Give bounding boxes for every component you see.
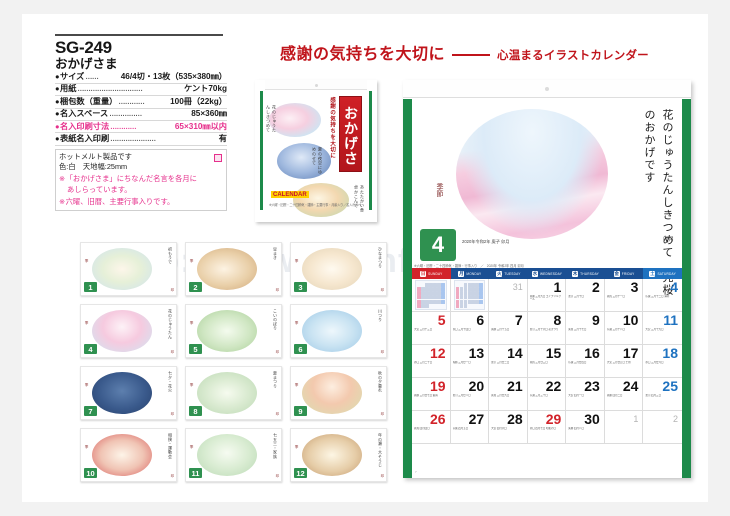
page-root: SG-249 おかげさま ●サイズ……46/4切・13枚（535×380㎜）●用… bbox=[0, 0, 730, 516]
dow-kanji: 火 bbox=[496, 271, 502, 277]
spec-leader: ………………… bbox=[109, 135, 219, 145]
dow-kanji: 日 bbox=[420, 271, 426, 277]
spec-leader: …… bbox=[84, 73, 120, 83]
hole-icon bbox=[315, 84, 318, 87]
thumbnail-illustration bbox=[197, 372, 257, 414]
spec-leader: ………… bbox=[109, 123, 175, 133]
day-annotation: 先勝 三月十五日 bbox=[491, 328, 525, 331]
thumbnail-seal: 季 bbox=[190, 445, 195, 459]
calendar-day-cell[interactable] bbox=[451, 279, 490, 312]
spec-leader: ………………………… bbox=[76, 85, 184, 95]
spec-label: 用紙 bbox=[60, 84, 76, 94]
calendar-bottom-note: ⌐ bbox=[415, 470, 417, 474]
calendar-day-cell[interactable]: 5大安 三月十三日 bbox=[412, 312, 451, 345]
title-divider bbox=[55, 34, 223, 36]
thumbnail-month-badge: 10 bbox=[84, 468, 97, 478]
calendar-hanger-strip bbox=[403, 80, 691, 98]
day-number: 18 bbox=[645, 346, 680, 361]
thumbnail-illustration bbox=[302, 434, 362, 476]
spec-leader: ………… bbox=[117, 98, 170, 108]
thumbnail-stamp: 印 bbox=[381, 411, 384, 416]
calendar-dow-monday: 月MONDAY bbox=[451, 268, 490, 279]
thumbnail-month-8[interactable]: 季夏まつり8印 bbox=[185, 366, 282, 420]
calendar-day-cell[interactable]: 22仏滅 三月三十日 bbox=[528, 378, 567, 411]
hole-icon bbox=[545, 87, 549, 91]
day-number: 9 bbox=[568, 313, 602, 328]
day-annotation: 赤口 四月七日 昭和の日 bbox=[530, 427, 564, 430]
calendar-grid: 日SUNDAY月MONDAY火TUESDAY水WEDNESDAY木THURSDA… bbox=[412, 268, 682, 444]
thumbnail-seal: 季 bbox=[85, 445, 90, 459]
day-number: 13 bbox=[453, 346, 487, 361]
calendar-day-cell[interactable]: 28大安 四月六日 bbox=[489, 411, 528, 444]
cover-caption-3: あたたかい食卓かこんで bbox=[353, 185, 365, 215]
day-annotation: 仏滅 三月廿四日 bbox=[568, 361, 602, 364]
day-number: 28 bbox=[491, 412, 525, 427]
dow-kanji: 土 bbox=[649, 271, 655, 277]
thumbnail-stamp: 印 bbox=[276, 287, 279, 292]
thumbnail-month-5[interactable]: 季こいのぼり5印 bbox=[185, 304, 282, 358]
day-number: 3 bbox=[607, 280, 641, 295]
thumbnail-seal: 季 bbox=[295, 445, 300, 459]
thumbnail-stamp: 印 bbox=[381, 349, 384, 354]
note-star-0: ※ 「おかげさま」にちなんだ名言を各月に bbox=[59, 174, 223, 184]
cover-logo: CALENDAR bbox=[271, 191, 309, 198]
calendar-day-cell[interactable]: 13先勝 三月廿一日 bbox=[451, 345, 490, 378]
thumbnail-stamp: 印 bbox=[171, 411, 174, 416]
thumbnail-stamp: 印 bbox=[381, 287, 384, 292]
day-number: 6 bbox=[453, 313, 487, 328]
headline-main: 感謝の気持ちを大切に bbox=[280, 46, 445, 64]
note-plain-0: ホットメルト製品です bbox=[59, 152, 223, 162]
bullet-icon: ● bbox=[55, 97, 60, 107]
product-name: おかげさま bbox=[55, 57, 227, 71]
thumbnail-stamp: 印 bbox=[276, 411, 279, 416]
calendar-day-cell[interactable]: 8友引 三月十六日 花まつり bbox=[528, 312, 567, 345]
spec-row-2: ●梱包数（重量）…………100冊（22kg） bbox=[55, 97, 227, 109]
spec-row-1: ●用紙…………………………ケント70kg bbox=[55, 84, 227, 96]
day-annotation: 友引 三月十日 bbox=[568, 295, 602, 298]
day-annotation: 先負 三月廿九日 bbox=[491, 394, 525, 397]
day-annotation: 先負 三月十一日 bbox=[607, 295, 641, 298]
day-annotation: 大安 三月廿五日 土用 bbox=[607, 361, 641, 364]
month-note: 卯月 bbox=[663, 235, 674, 243]
day-number: 16 bbox=[568, 346, 602, 361]
calendar-day-cell[interactable]: 29赤口 四月七日 昭和の日 bbox=[528, 411, 567, 444]
mini-calendar-grid bbox=[456, 282, 484, 308]
dow-kanji: 金 bbox=[614, 271, 620, 277]
calendar-day-cell[interactable]: 16仏滅 三月廿四日 bbox=[566, 345, 605, 378]
day-annotation: 友引 三月廿八日 bbox=[453, 394, 487, 397]
thumbnail-month-badge: 9 bbox=[294, 406, 307, 416]
day-annotation: 仏滅 四月五日 bbox=[453, 427, 487, 430]
day-annotation: 赤口 三月二十日 bbox=[414, 361, 448, 364]
calendar-day-cell[interactable]: 25友引 四月三日 bbox=[643, 378, 682, 411]
thumbnail-month-badge: 12 bbox=[294, 468, 307, 478]
mini-calendar-day bbox=[456, 295, 460, 299]
day-annotation: 友引 四月三日 bbox=[645, 394, 680, 397]
day-annotation: 大安 四月一日 bbox=[568, 394, 602, 397]
calendar-dow-tuesday: 火TUESDAY bbox=[489, 268, 528, 279]
thumbnail-illustration bbox=[197, 310, 257, 352]
calendar-dow-saturday: 土SATURDAY bbox=[643, 268, 682, 279]
mini-calendar-grid bbox=[417, 282, 445, 308]
product-spec-panel: SG-249 おかげさま ●サイズ……46/4切・13枚（535×380㎜）●用… bbox=[55, 34, 227, 211]
calendar-day-cell[interactable]: 3先負 三月十一日 bbox=[605, 279, 644, 312]
thumbnail-month-2[interactable]: 季豆まき2印 bbox=[185, 242, 282, 296]
day-number: 30 bbox=[568, 412, 602, 427]
thumbnail-month-badge: 7 bbox=[84, 406, 97, 416]
calendar-day-cell[interactable]: 27仏滅 四月五日 bbox=[451, 411, 490, 444]
calendar-dow-thursday: 木THURSDAY bbox=[566, 268, 605, 279]
cover-title: おかげさま bbox=[339, 96, 362, 172]
spec-row-4: ●名入印刷寸法…………65×310㎜以内 bbox=[55, 122, 227, 134]
calendar-day-cell[interactable]: 11大安 三月十九日 bbox=[643, 312, 682, 345]
thumbnail-month-9[interactable]: 季秋の夕暮れ9印 bbox=[290, 366, 387, 420]
day-annotation: 先勝 四月八日 bbox=[568, 427, 602, 430]
day-annotation: 大安 三月十九日 bbox=[645, 328, 680, 331]
calendar-day-cell[interactable]: 19先勝 三月廿七日 穀雨 bbox=[412, 378, 451, 411]
thumbnail-month-12[interactable]: 季年の瀬・大そうじ12印 bbox=[290, 428, 387, 482]
thumbnail-illustration bbox=[302, 248, 362, 290]
thumbnail-seal: 季 bbox=[85, 321, 90, 335]
mini-calendar-day bbox=[479, 295, 483, 299]
mini-calendar-day bbox=[464, 283, 468, 287]
thumbnail-seal: 季 bbox=[85, 259, 90, 273]
note-star-1: ※ 六曜、旧暦、主要行事入りです。 bbox=[59, 197, 223, 207]
day-number: 2 bbox=[568, 280, 602, 295]
thumbnail-month-badge: 11 bbox=[189, 468, 202, 478]
day-annotation: 先勝 四月二日 bbox=[607, 394, 641, 397]
product-code: SG-249 bbox=[55, 38, 227, 57]
thumbnail-seal: 季 bbox=[295, 383, 300, 397]
monthly-thumbnail-grid: 季初もうで1印季豆まき2印季ひなまつり3印季花のじゅうたん4印季こいのぼり5印季… bbox=[80, 242, 390, 482]
cover-preview[interactable]: おかげさま 感謝の気持ちを大切に 花のじゅうたんしきつめて 夏の夜空にゆめのせて… bbox=[255, 80, 377, 222]
day-number: 15 bbox=[530, 346, 564, 361]
thumbnail-seal: 季 bbox=[295, 321, 300, 335]
calendar-day-cell[interactable]: 1先勝 三月九日 エイプリルフール bbox=[528, 279, 567, 312]
day-number: 26 bbox=[414, 412, 448, 427]
spec-list: ●サイズ……46/4切・13枚（535×380㎜）●用紙…………………………ケン… bbox=[55, 72, 227, 146]
calendar-day-cell[interactable]: 30先勝 四月八日 bbox=[566, 411, 605, 444]
thumbnail-month-badge: 6 bbox=[294, 344, 307, 354]
star-text-0: 「おかげさま」にちなんだ名言を各月に bbox=[66, 174, 223, 184]
dow-english: FRIDAY bbox=[622, 272, 635, 276]
thumbnail-month-3[interactable]: 季ひなまつり3印 bbox=[290, 242, 387, 296]
calendar-day-cell[interactable]: 12赤口 三月二十日 bbox=[412, 345, 451, 378]
calendar-day-cell[interactable]: 4仏滅 三月十二日 清明 bbox=[643, 279, 682, 312]
dow-kanji: 木 bbox=[572, 271, 578, 277]
spec-label: 名入印刷寸法 bbox=[60, 122, 109, 132]
spec-leader: …………… bbox=[108, 110, 191, 120]
note-star-0-cont: あしらっています。 bbox=[59, 185, 223, 195]
calendar-day-cell[interactable]: 23大安 四月一日 bbox=[566, 378, 605, 411]
calendar-day-cell[interactable]: 31 bbox=[489, 279, 528, 312]
calendar-day-cell[interactable]: 9先負 三月十七日 bbox=[566, 312, 605, 345]
thumbnail-month-badge: 5 bbox=[189, 344, 202, 354]
mini-calendar-day bbox=[464, 295, 468, 299]
thumbnail-month-badge: 2 bbox=[189, 282, 202, 292]
star-indent-0: あしらっています。 bbox=[67, 185, 223, 195]
mini-calendar-day bbox=[479, 283, 483, 287]
month-badge: 4 bbox=[420, 229, 456, 261]
thumbnail-stamp: 印 bbox=[171, 473, 174, 478]
mini-calendar bbox=[454, 280, 486, 310]
headline-dash bbox=[452, 54, 490, 56]
mini-calendar-day bbox=[441, 295, 445, 299]
thumbnail-month-badge: 8 bbox=[189, 406, 202, 416]
calendar-preview[interactable]: 季節 花のじゅうたんしきつめて 先桜のおかげです 卯月 4 2020年令和2年 … bbox=[403, 80, 691, 478]
spec-value: 85×360㎜ bbox=[191, 109, 227, 119]
calendar-day-cell[interactable]: 24先勝 四月二日 bbox=[605, 378, 644, 411]
spec-label: サイズ bbox=[60, 72, 84, 82]
day-number: 5 bbox=[414, 313, 448, 328]
calendar-day-cell[interactable]: 6赤口 三月十四日 bbox=[451, 312, 490, 345]
spec-label: 表紙名入印刷 bbox=[60, 134, 109, 144]
artwork-oval bbox=[456, 109, 608, 239]
calendar-day-cell[interactable]: 7先勝 三月十五日 bbox=[489, 312, 528, 345]
thumbnail-seal: 季 bbox=[295, 259, 300, 273]
day-number: 27 bbox=[453, 412, 487, 427]
calendar-day-cell[interactable]: 18赤口 三月廿六日 bbox=[643, 345, 682, 378]
headline-banner: 感謝の気持ちを大切に 心温まるイラストカレンダー bbox=[280, 46, 649, 64]
mini-calendar-day bbox=[441, 283, 445, 287]
dow-english: THURSDAY bbox=[580, 272, 599, 276]
day-number: 2 bbox=[645, 412, 680, 427]
spec-row-5: ●表紙名入印刷…………………有 bbox=[55, 134, 227, 146]
bullet-icon: ● bbox=[55, 134, 60, 144]
note-plain-1: 色:白 天地幅:25mm bbox=[59, 162, 223, 172]
calendar-day-cell[interactable]: 14友引 三月廿二日 bbox=[489, 345, 528, 378]
day-annotation: 赤口 三月十四日 bbox=[453, 328, 487, 331]
spec-row-0: ●サイズ……46/4切・13枚（535×380㎜） bbox=[55, 72, 227, 84]
calendar-dow-sunday: 日SUNDAY bbox=[412, 268, 451, 279]
spec-value: 100冊（22kg） bbox=[170, 97, 227, 107]
day-annotation: 大安 四月六日 bbox=[491, 427, 525, 430]
calendar-day-cell[interactable]: 10仏滅 三月十八日 bbox=[605, 312, 644, 345]
dow-english: TUESDAY bbox=[504, 272, 520, 276]
thumbnail-illustration bbox=[92, 372, 152, 414]
day-number: 17 bbox=[607, 346, 641, 361]
bullet-icon: ● bbox=[55, 84, 60, 94]
dow-english: MONDAY bbox=[466, 272, 481, 276]
headline-sub: 心温まるイラストカレンダー bbox=[497, 47, 649, 63]
thumbnail-stamp: 印 bbox=[276, 349, 279, 354]
day-annotation: 先負 三月十七日 bbox=[568, 328, 602, 331]
day-annotation: 赤口 三月廿六日 bbox=[645, 361, 680, 364]
thumbnail-illustration bbox=[197, 434, 257, 476]
thumbnail-month-10[interactable]: 季相撲・運動会10印 bbox=[80, 428, 177, 482]
bullet-icon: ● bbox=[55, 109, 60, 119]
day-number: 8 bbox=[530, 313, 564, 328]
day-number: 20 bbox=[453, 379, 487, 394]
dow-kanji: 月 bbox=[458, 271, 464, 277]
thumbnail-month-1[interactable]: 季初もうで1印 bbox=[80, 242, 177, 296]
day-annotation: 仏滅 三月十八日 bbox=[607, 328, 641, 331]
cover-caption-1: 花のじゅうたんしきつめて bbox=[265, 105, 277, 135]
mini-calendar-day bbox=[479, 304, 483, 308]
day-number: 31 bbox=[491, 280, 525, 295]
star-mark-1: ※ bbox=[59, 197, 65, 207]
bullet-icon: ● bbox=[55, 72, 60, 82]
calendar-day-cell[interactable]: 21先負 三月廿九日 bbox=[489, 378, 528, 411]
thumbnail-month-badge: 4 bbox=[84, 344, 97, 354]
thumbnail-month-badge: 3 bbox=[294, 282, 307, 292]
thumbnail-stamp: 印 bbox=[276, 473, 279, 478]
cover-caption-2: 夏の夜空にゆめのせて bbox=[311, 147, 323, 177]
mini-calendar-day bbox=[460, 283, 464, 287]
day-number: 7 bbox=[491, 313, 525, 328]
mini-calendar-day bbox=[441, 304, 445, 308]
cover-body: おかげさま 感謝の気持ちを大切に 花のじゅうたんしきつめて 夏の夜空にゆめのせて… bbox=[260, 91, 372, 210]
thumbnail-illustration bbox=[92, 434, 152, 476]
calendar-day-cell[interactable]: 2友引 三月十日 bbox=[566, 279, 605, 312]
day-annotation: 先勝 三月廿七日 穀雨 bbox=[414, 394, 448, 397]
day-number: 24 bbox=[607, 379, 641, 394]
day-annotation: 仏滅 三月三十日 bbox=[530, 394, 564, 397]
day-number: 1 bbox=[607, 412, 641, 427]
mini-calendar bbox=[415, 280, 447, 310]
thumbnail-month-4[interactable]: 季花のじゅうたん4印 bbox=[80, 304, 177, 358]
spec-value: 46/4切・13枚（535×380㎜） bbox=[121, 72, 227, 82]
year-info: 2020年令和2年 庚子 卯月 bbox=[462, 239, 509, 244]
star-text-1: 六曜、旧暦、主要行事入りです。 bbox=[66, 197, 223, 207]
cover-illustration-3 bbox=[293, 183, 349, 217]
thumbnail-month-badge: 1 bbox=[84, 282, 97, 292]
spec-value: ケント70kg bbox=[184, 84, 227, 94]
day-annotation: 先勝 三月九日 エイプリルフール bbox=[530, 295, 564, 302]
calendar-day-cell[interactable]: 2 bbox=[643, 411, 682, 444]
day-annotation: 仏滅 三月十二日 清明 bbox=[645, 295, 680, 298]
day-annotation: 先負 三月廿三日 bbox=[530, 361, 564, 364]
spec-label: 名入スペース bbox=[60, 109, 108, 119]
day-number: 22 bbox=[530, 379, 564, 394]
spec-row-3: ●名入スペース……………85×360㎜ bbox=[55, 109, 227, 121]
day-annotation: 友引 三月十六日 花まつり bbox=[530, 328, 564, 331]
calendar-day-cell[interactable]: 26先負 四月四日 bbox=[412, 411, 451, 444]
thumbnail-illustration bbox=[302, 372, 362, 414]
thumbnail-illustration bbox=[197, 248, 257, 290]
hotmelt-icon bbox=[214, 154, 222, 162]
dow-kanji: 水 bbox=[532, 271, 538, 277]
calendar-day-cell[interactable]: 1 bbox=[605, 411, 644, 444]
thumbnail-illustration bbox=[92, 310, 152, 352]
day-number: 21 bbox=[491, 379, 525, 394]
calendar-day-cell[interactable] bbox=[412, 279, 451, 312]
mini-calendar-day bbox=[456, 283, 460, 287]
spec-value: 65×310㎜以内 bbox=[175, 122, 227, 132]
day-number: 14 bbox=[491, 346, 525, 361]
catalog-sheet: SG-249 おかげさま ●サイズ……46/4切・13枚（535×380㎜）●用… bbox=[22, 14, 708, 502]
calendar-artwork: 季節 花のじゅうたんしきつめて 先桜のおかげです 卯月 bbox=[412, 99, 682, 249]
mini-calendar-day bbox=[456, 304, 460, 308]
thumbnail-seal: 季 bbox=[190, 259, 195, 273]
day-number: 25 bbox=[645, 379, 680, 394]
thumbnail-stamp: 印 bbox=[381, 473, 384, 478]
calendar-body: 季節 花のじゅうたんしきつめて 先桜のおかげです 卯月 4 2020年令和2年 … bbox=[403, 99, 691, 478]
thumbnail-month-6[interactable]: 季川つり6印 bbox=[290, 304, 387, 358]
day-annotation: 先負 四月四日 bbox=[414, 427, 448, 430]
thumbnail-illustration bbox=[302, 310, 362, 352]
dow-english: SATURDAY bbox=[657, 272, 675, 276]
calendar-dow-friday: 金FRIDAY bbox=[605, 268, 644, 279]
product-notes: ホットメルト製品です 色:白 天地幅:25mm ※ 「おかげさま」にちなんだ名言… bbox=[55, 149, 227, 211]
mini-calendar-day bbox=[460, 295, 464, 299]
dow-english: WEDNESDAY bbox=[540, 272, 562, 276]
thumbnail-seal: 季 bbox=[85, 383, 90, 397]
thumbnail-stamp: 印 bbox=[171, 349, 174, 354]
day-number: 11 bbox=[645, 313, 680, 328]
day-annotation: 先勝 三月廿一日 bbox=[453, 361, 487, 364]
mini-calendar-day bbox=[464, 304, 468, 308]
day-annotation: 大安 三月十三日 bbox=[414, 328, 448, 331]
thumbnail-month-7[interactable]: 季七夕・花火7印 bbox=[80, 366, 177, 420]
thumbnail-illustration bbox=[92, 248, 152, 290]
thumbnail-stamp: 印 bbox=[171, 287, 174, 292]
day-number: 12 bbox=[414, 346, 448, 361]
cover-hanger-strip bbox=[265, 80, 367, 90]
day-number: 10 bbox=[607, 313, 641, 328]
calendar-dow-wednesday: 水WEDNESDAY bbox=[528, 268, 567, 279]
mini-calendar-day bbox=[460, 304, 464, 308]
calendar-day-cell[interactable]: 17大安 三月廿五日 土用 bbox=[605, 345, 644, 378]
calendar-day-cell[interactable]: 20友引 三月廿八日 bbox=[451, 378, 490, 411]
day-annotation: 友引 三月廿二日 bbox=[491, 361, 525, 364]
spec-label: 梱包数（重量） bbox=[60, 97, 117, 107]
cover-subtitle: 感謝の気持ちを大切に bbox=[328, 97, 336, 159]
calendar-day-cell[interactable]: 15先負 三月廿三日 bbox=[528, 345, 567, 378]
cover-footer-note: ※六曜・旧暦・二十四節気・雑節・主要行事・月齢入り／名入れスペース85×360㎜ bbox=[269, 202, 363, 207]
thumbnail-seal: 季 bbox=[190, 383, 195, 397]
thumbnail-seal: 季 bbox=[190, 321, 195, 335]
thumbnail-month-11[interactable]: 季七五三・家族11印 bbox=[185, 428, 282, 482]
day-number: 29 bbox=[530, 412, 564, 427]
day-number: 23 bbox=[568, 379, 602, 394]
spec-value: 有 bbox=[219, 134, 227, 144]
day-number: 4 bbox=[645, 280, 680, 295]
artist-seal: 季節 bbox=[434, 183, 444, 197]
dow-english: SUNDAY bbox=[428, 272, 442, 276]
bullet-icon: ● bbox=[55, 122, 60, 132]
day-number: 19 bbox=[414, 379, 448, 394]
day-number: 1 bbox=[530, 280, 564, 295]
star-mark-0: ※ bbox=[59, 174, 65, 184]
